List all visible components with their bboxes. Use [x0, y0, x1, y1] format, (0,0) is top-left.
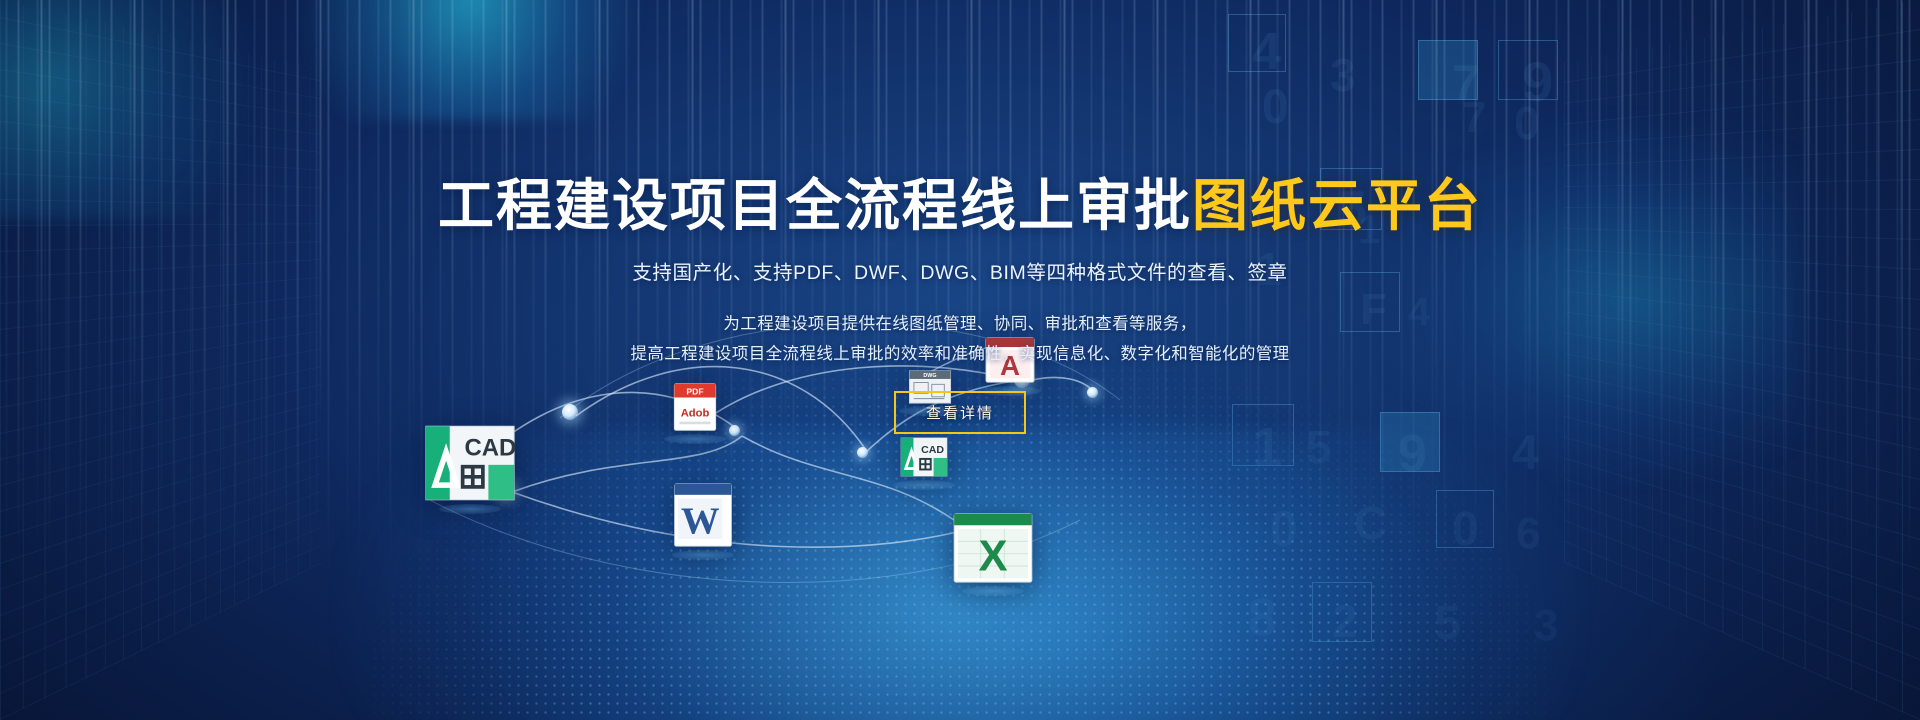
file-icon-shadow [893, 480, 955, 490]
autocad-file-icon[interactable]: CAD [424, 424, 516, 502]
node-center-right [857, 447, 868, 458]
page-title: 工程建设项目全流程线上审批图纸云平台 [0, 178, 1920, 234]
word-file-icon[interactable]: W [672, 482, 734, 548]
file-icon-shadow [439, 504, 501, 514]
autocad-small-file-icon[interactable]: CAD [900, 436, 948, 478]
hero-description-line-2: 提高工程建设项目全流程线上审批的效率和准确性，实现信息化、数字化和智能化的管理 [0, 339, 1920, 369]
hero-subtitle: 支持国产化、支持PDF、DWF、DWG、BIM等四种格式文件的查看、签章 [0, 256, 1920, 285]
svg-text:CAD: CAD [921, 444, 944, 456]
hero-description-line-1: 为工程建设项目提供在线图纸管理、协同、审批和查看等服务， [0, 309, 1920, 339]
svg-text:W: W [681, 500, 720, 542]
hero-banner: 437907051F4115940C068253 CAD [0, 0, 1920, 720]
file-icon-shadow [664, 434, 726, 444]
svg-text:CAD: CAD [464, 435, 516, 462]
file-icon-shadow [672, 550, 734, 560]
file-icon-shadow [962, 586, 1024, 596]
page-title-primary: 工程建设项目全流程线上审批 [438, 174, 1192, 237]
page-title-highlight: 图纸云平台 [1192, 174, 1482, 237]
hero-content: 工程建设项目全流程线上审批图纸云平台 支持国产化、支持PDF、DWF、DWG、B… [0, 0, 1920, 434]
svg-text:X: X [978, 533, 1007, 581]
cta-container: 查看详情 [0, 391, 1920, 434]
hero-description: 为工程建设项目提供在线图纸管理、协同、审批和查看等服务， 提高工程建设项目全流程… [0, 309, 1920, 369]
excel-file-icon[interactable]: X [952, 512, 1034, 584]
view-details-button[interactable]: 查看详情 [894, 391, 1026, 434]
